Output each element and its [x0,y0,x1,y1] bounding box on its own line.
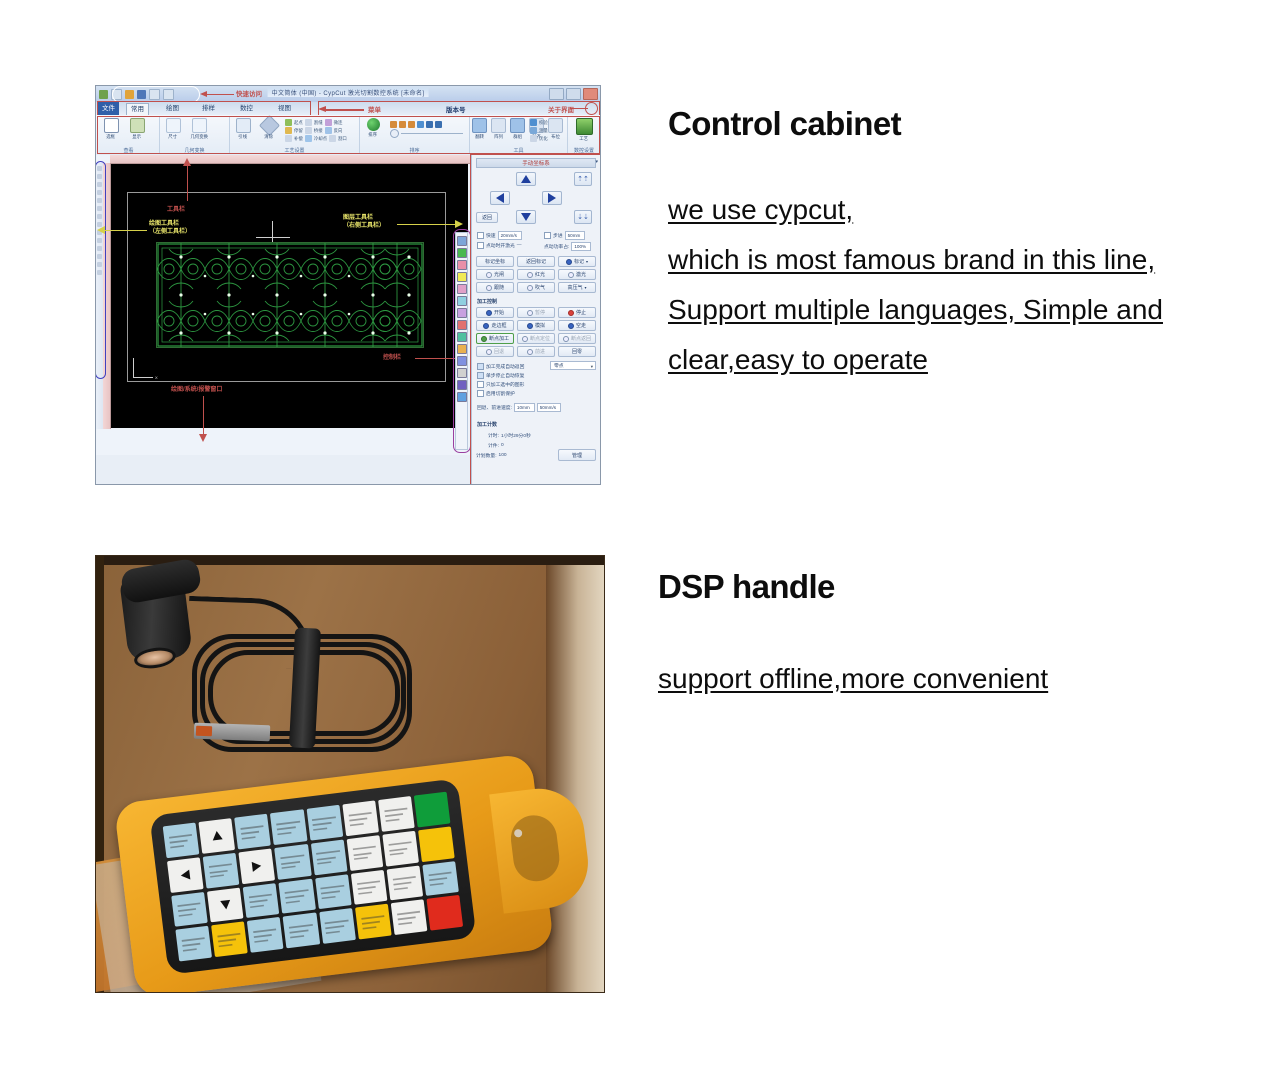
app-logo-icon [99,90,108,99]
key-r4c2[interactable] [211,922,248,958]
key-start[interactable] [414,792,451,828]
ribbon-group-name: 查看 [98,147,159,154]
ribbon-group-view: 选框 显示 查看 [98,116,160,154]
checkbox-icon[interactable] [477,242,484,249]
option-label: 只加工选中的图形 [486,381,524,388]
checkbox-checked-icon[interactable] [477,372,484,379]
chevron-down-icon[interactable]: ▾ [585,285,587,290]
back-icon [486,349,492,355]
ribbon-small-row[interactable]: 起点 割缝 微连 [285,119,347,126]
ribbon-button-clear[interactable]: 清除 [256,117,282,140]
btn-label: 红光 [535,271,545,278]
ribbon-button-geometry-transform[interactable]: 几何变换 [186,117,212,140]
ribbon-small-label: 冷却点 [314,136,327,142]
ribbon-small-row[interactable]: 停留 桥接 反向 [285,127,347,134]
ruler-top [110,155,470,164]
speed-row-label: 回退、前进速度: [477,404,512,411]
chevron-down-icon[interactable]: ▾ [586,259,588,264]
pattern-svg [157,243,423,347]
layer-toolbar-highlight-ring [453,229,471,453]
annotation-draw-toolbar: 绘图工具栏 （左侧工具栏） [149,220,191,236]
btn-label: 回退 [494,348,504,355]
ribbon-group-name: 工艺设置 [230,147,359,154]
ribbon-small-commands: 起点 割缝 微连 停留 桥接 反向 [285,117,347,142]
key-r2c2[interactable] [203,853,240,889]
step-label: 步进 [553,232,563,239]
process-control-section-title: 加工控制 [477,298,497,305]
ribbon-group-name: 排序 [360,147,469,154]
ribbon-label: 几何变换 [190,134,207,140]
ribbon-small-label: 补偿 [294,136,303,142]
checkbox-checked-icon[interactable] [477,363,484,370]
ribbon-label: 群组 [513,134,522,140]
option-auto-resume[interactable]: 单步停止自动恢复 [477,372,524,379]
size-icon [166,118,181,133]
btn-label: 断点加工 [489,335,509,342]
key-r4c3[interactable] [247,917,284,953]
red-light-icon [527,272,533,278]
checkbox-icon[interactable] [477,232,484,239]
high-pressure-gas-button[interactable]: 高压气▾ [558,282,596,293]
group-icon [510,118,525,133]
ribbon-button-group[interactable]: 群组 [508,117,527,140]
return-button[interactable]: 返回 [476,212,498,223]
sort-order-2-icon [399,121,406,128]
key-r2c5[interactable] [310,839,347,875]
stat-count-value: 0 [501,443,504,448]
stop-button[interactable]: 停止 [558,307,596,318]
jog-pad[interactable]: ⇡⇡ ⇣⇣ 返回 [472,171,601,227]
ribbon-small-label: 割口 [338,136,347,142]
ribbon-small-row[interactable]: 测量 [530,127,566,134]
mark-coordinate-button[interactable]: 标记坐标 [476,256,514,267]
axis-x-label: X [155,375,158,380]
follow-button[interactable]: 跟随 [476,282,514,293]
jog-z-down-button[interactable]: ⇣⇣ [574,210,592,224]
dwell-icon [285,127,292,134]
ribbon-button-lead[interactable]: 引线 [230,117,256,140]
key-r4c4[interactable] [283,913,320,949]
annotation-layer-toolbar-line2: （右侧工具栏） [343,222,385,230]
stat-count-row: 计件: 0 [488,442,504,449]
control-cabinet-line-2: which is most famous brand in this line, [668,235,1268,285]
ribbon-small-label: 微连 [334,120,343,126]
btn-label: 暂停 [535,309,545,316]
key-down[interactable] [207,887,244,923]
sort-order-4-icon [417,121,424,128]
ribbon-small-row[interactable]: 校验 [530,119,566,126]
ribbon-label: 引线 [239,134,248,140]
cut-pattern-graphic [156,242,424,348]
log-window-annotation-arrow-icon [199,396,208,442]
z-down-icon: ⇣⇣ [577,213,589,221]
dryrun-icon [568,323,574,329]
display-icon [130,118,145,133]
btn-label: 返回标记 [526,258,546,265]
minimize-icon[interactable] [549,88,564,100]
fast-speed-value[interactable]: 20mm/s [498,231,522,240]
return-mark-button[interactable]: 返回标记 [517,256,555,267]
arrow-down-icon [220,900,231,910]
control-cabinet-line-1: we use cypcut, [668,185,1268,235]
jog-power-row[interactable]: 点动功率占: 100% [544,242,591,251]
ribbon-button-select[interactable]: 选框 [98,117,124,140]
btn-label: 标记 [574,258,584,265]
checkbox-icon[interactable] [477,381,484,388]
option-label: 加工完成自动返回 [486,363,524,370]
forward-button[interactable]: 前进 [517,346,555,357]
mark-icon [566,259,572,265]
ribbon-small-label: 测量 [539,128,548,134]
optimize-icon [530,135,537,142]
quick-access-annotation: 快速访问 [236,88,262,98]
keypad-grid[interactable] [163,792,463,962]
cooling-point-icon [305,135,312,142]
annotation-log-window: 绘图/系统/报警窗口 [171,386,222,394]
annotation-draw-toolbar-line2: （左侧工具栏） [149,228,191,236]
pause-button[interactable]: 暂停 [517,307,555,318]
annotation-layer-toolbar-line1: 图层工具栏 [343,214,385,222]
ribbon-small-label: 停留 [294,128,303,134]
jog-power-label: 点动功率占: [544,243,569,250]
option-cut-protect[interactable]: 启用切割保护 [477,390,515,397]
ribbon-small-row[interactable] [390,121,463,128]
canvas-viewport[interactable]: X 工具栏 绘图工具栏 （左侧工具栏） 图层工具栏 （右侧工具栏） [111,164,468,428]
annotation-layer-toolbar: 图层工具栏 （右侧工具栏） [343,214,385,230]
stat-timer-label: 计时: [488,432,499,439]
ribbon-label: 工艺 [580,136,589,142]
key-r1c3[interactable] [234,814,271,850]
key-r2c7[interactable] [382,831,419,867]
ribbon-label: 阵列 [494,134,503,140]
laser-icon [568,272,574,278]
prev-icon[interactable] [426,121,433,128]
checkbox-icon[interactable] [544,232,551,239]
option-label: 单步停止自动恢复 [486,372,524,379]
btn-label: 模拟 [535,322,545,329]
stat-count-label: 计件: [488,442,499,449]
draw-toolbar-highlight-ring [95,161,106,379]
arrow-up-icon [211,831,222,841]
home-button[interactable]: 回零 [558,346,596,357]
laser-on-jog-checkbox[interactable]: 点动时开激光 — [477,242,522,249]
ribbon-label: 排序 [369,132,378,138]
key-r4c1[interactable] [175,926,212,962]
ribbon-small-label: 反向 [334,128,343,134]
control-cabinet-heading: Control cabinet [668,105,1268,143]
ribbon-small-row[interactable]: 补偿 冷却点 割口 [285,135,347,142]
verify-icon [530,119,537,126]
drawing-canvas-area[interactable]: X 工具栏 绘图工具栏 （左侧工具栏） 图层工具栏 （右侧工具栏） [96,155,470,455]
dsp-handle-photo [95,555,605,993]
ribbon-group-cnc-settings: 工艺 数控设置 [568,116,600,154]
btn-label: 走边框 [491,322,506,329]
arrow-down-icon [521,213,531,221]
simulate-button[interactable]: 模拟 [517,320,555,331]
btn-label: 开始 [494,309,504,316]
speed-row[interactable]: 回退、前进速度: 10mm 50mm/s [477,403,561,412]
blow-icon [527,285,533,291]
ribbon[interactable]: 选框 显示 查看 尺寸 几何变换 几何变换 [96,115,600,156]
dsp-handle-text-block: DSP handle support offline,more convenie… [658,568,1258,704]
key-left[interactable] [167,857,204,893]
sort-slider[interactable] [390,129,463,138]
btn-label: 断点定位 [530,335,550,342]
origin-marker: X [133,356,155,378]
back-speed-value[interactable]: 50mm/s [537,403,561,412]
ribbon-sort-extras [390,119,463,138]
checkbox-icon[interactable] [477,390,484,397]
btn-label: 吹气 [535,284,545,291]
stat-planned-row: 计划数量: 100 [476,452,507,459]
laser-on-jog-label: 点动时开激光 [486,242,515,249]
sort-order-3-icon [408,121,415,128]
annotation-draw-toolbar-line1: 绘图工具栏 [149,220,191,228]
key-r3c4[interactable] [279,878,316,914]
key-r2c6[interactable] [346,835,383,871]
arrow-right-icon [252,860,262,871]
arrow-right-icon [548,193,556,203]
btn-label: 高压气 [567,284,582,291]
step-checkbox[interactable]: 步进 50mm [544,231,585,240]
key-r1c1[interactable] [163,822,200,858]
fast-speed-label: 快速 [486,232,496,239]
dsp-handle-heading: DSP handle [658,568,1258,606]
jog-up-button[interactable] [516,172,536,186]
key-r1c7[interactable] [378,796,415,832]
step-value[interactable]: 50mm [565,231,586,240]
quick-access-arrow-icon [200,90,234,98]
window-buttons[interactable] [549,88,598,100]
btn-label: 回零 [572,348,582,355]
layer-toolbar-annotation-arrow-icon [397,220,463,229]
breakpoint-icon [481,336,487,342]
arrow-up-icon [521,175,531,183]
jog-left-button[interactable] [490,191,510,205]
key-up[interactable] [199,818,236,854]
stat-planned-label: 计划数量: [476,452,497,459]
option-label: 启用切割保护 [486,390,515,397]
breakpoint-locate-button[interactable]: 断点定位 [517,333,555,344]
btn-label: 空走 [576,322,586,329]
kerf-icon [305,119,312,126]
key-r3c7[interactable] [386,865,423,901]
ribbon-button-size[interactable]: 尺寸 [160,117,186,140]
play-icon [486,310,492,316]
ribbon-group-transform: 尺寸 几何变换 几何变换 [160,116,230,154]
measure-icon [530,127,537,134]
breakpoint-process-button[interactable]: 断点加工 [476,333,514,344]
locate-icon [522,336,528,342]
arrow-left-icon [180,869,190,880]
fast-speed-checkbox[interactable]: 快速 20mm/s [477,231,522,240]
control-cabinet-line-3: Support multiple languages, Simple and [668,285,1268,335]
forward-icon [527,349,533,355]
version-annotation: 版本号 [446,104,466,114]
key-r4c7[interactable] [391,900,428,936]
stop-icon [568,310,574,316]
ribbon-button-craft[interactable]: 工艺 [571,117,597,142]
stats-section-title: 加工计数 [477,421,497,428]
jog-down-button[interactable] [516,210,536,224]
mark-button[interactable]: 标记▾ [558,256,596,267]
keypad-bezel [149,778,476,975]
ribbon-button-sort[interactable]: 排序 [360,117,386,138]
tabs-highlight-box [97,101,311,116]
sort-icon [367,118,380,131]
shutter-button[interactable]: 光闸 [476,269,514,280]
btn-label: 前进 [535,348,545,355]
array-icon [491,118,506,133]
stat-timer-row: 计时: 1小时29分0秒 [488,432,531,439]
option-auto-return[interactable]: 加工完成自动返回 [477,363,524,370]
key-r4c6[interactable] [355,904,392,940]
ribbon-group-name: 数控设置 [568,147,600,154]
z-up-icon: ⇡⇡ [577,175,589,183]
ribbon-small-label: 桥接 [314,128,323,134]
annotation-toolbar: 工具栏 [167,206,185,214]
transform-icon [192,118,207,133]
about-highlight-circle [585,102,598,115]
ribbon-label: 选框 [107,134,116,140]
back-distance-value[interactable]: 10mm [514,403,535,412]
ribbon-group-sort: 排序 排序 [360,116,470,154]
chevron-down-icon[interactable]: ▾ [591,362,593,371]
back-button[interactable]: 回退 [476,346,514,357]
ribbon-group-process: 引线 清除 起点 割缝 微连 [230,116,360,154]
control-cabinet-line-4: clear,easy to operate [668,335,1268,385]
ribbon-label: 尺寸 [169,134,178,140]
ribbon-tools-extra: 校验 测量 优化 [530,116,566,154]
blow-button[interactable]: 吹气 [517,282,555,293]
start-button[interactable]: 开始 [476,307,514,318]
ribbon-label: 翻转 [475,134,484,140]
key-r3c3[interactable] [243,883,280,919]
stat-planned-value: 100 [499,453,507,458]
close-icon[interactable] [583,88,598,100]
start-point-icon [285,119,292,126]
key-r3c5[interactable] [315,874,352,910]
btn-label: 跟随 [494,284,504,291]
panel-collapse-chevron-down-icon[interactable]: ▾ [595,159,598,165]
simulate-icon [527,323,533,329]
btn-label: 管理 [572,452,582,459]
sort-order-1-icon [390,121,397,128]
lead-icon [236,118,251,133]
shutter-icon [486,272,492,278]
zero-point-select[interactable]: 零点▾ [550,361,596,370]
draw-toolbar-annotation-arrow-icon [97,226,147,235]
key-r1c5[interactable] [306,805,343,841]
ribbon-button-display[interactable]: 显示 [124,117,150,140]
key-stop[interactable] [426,895,463,931]
key-r1c6[interactable] [342,800,379,836]
key-r1c4[interactable] [270,809,307,845]
clear-icon [258,115,279,136]
control-cabinet-text-block: Control cabinet we use cypcut, which is … [668,105,1268,385]
menu-annotation: 菜单 [368,104,381,114]
manage-button[interactable]: 管理 [558,449,596,461]
ribbon-group-name: 几何变换 [160,147,229,154]
dsp-handle-line-1: support offline,more convenient [658,654,1258,704]
btn-label: 光闸 [494,271,504,278]
ribbon-label: 显示 [133,134,142,140]
cursor-icon [104,118,119,133]
manual-control-panel[interactable]: 手动坐标系 ▾ ⇡⇡ ⇣⇣ 返回 快速 20mm/s 步进 50mm 点动时开激… [471,155,601,484]
craft-icon [576,118,593,135]
bridge-icon [305,127,312,134]
stat-timer-value: 1小时29分0秒 [501,432,531,439]
key-r4c5[interactable] [319,908,356,944]
reverse-icon [325,127,332,134]
key-r3c1[interactable] [171,891,208,927]
dsp-handle-body: support offline,more convenient [658,654,1258,704]
option-selected-only[interactable]: 只加工选中的图形 [477,381,524,388]
key-r3c8[interactable] [422,861,459,897]
flip-icon [472,118,487,133]
jog-right-button[interactable] [542,191,562,205]
ribbon-small-row[interactable]: 优化 [530,135,566,142]
panel-title-manual-coordinate[interactable]: 手动坐标系 [476,158,596,168]
red-light-button[interactable]: 红光 [517,269,555,280]
jog-power-value[interactable]: 100% [571,242,591,251]
ribbon-button-flip[interactable]: 翻转 [470,117,489,140]
compensate-icon [285,135,292,142]
ribbon-small-label: 割缝 [314,120,323,126]
btn-label: 标记坐标 [485,258,505,265]
laser-button[interactable]: 激光 [558,269,596,280]
breakpoint-return-button[interactable]: 断点返回 [558,333,596,344]
btn-label: 激光 [576,271,586,278]
frame-icon [483,323,489,329]
gap-icon [329,135,336,142]
btn-label: 断点返回 [571,335,591,342]
cypcut-window-title: 中文简体 (中国) - CypCut 激光切割数控系统 [未命名] [268,88,429,97]
ribbon-label: 清除 [265,134,274,140]
menu-arrow-icon [318,106,364,114]
ribbon-small-label: 起点 [294,120,303,126]
microjoint-icon [325,119,332,126]
control-cabinet-software-screenshot: 快速访问 中文简体 (中国) - CypCut 激光切割数控系统 [未命名] 文… [95,85,601,485]
btn-label: 停止 [576,309,586,316]
ribbon-tools-small: 校验 测量 优化 [530,116,566,142]
ribbon-small-label: 优化 [539,136,548,142]
follow-icon [486,285,492,291]
usb-connector [194,723,271,742]
frame-button[interactable]: 走边框 [476,320,514,331]
zero-point-value: 零点 [554,364,564,369]
return-bp-icon [563,336,569,342]
dry-run-button[interactable]: 空走 [558,320,596,331]
key-r2c4[interactable] [274,844,311,880]
key-r3c6[interactable] [350,869,387,905]
maximize-icon[interactable] [566,88,581,100]
key-pause[interactable] [418,826,455,862]
ribbon-button-array[interactable]: 阵列 [489,117,508,140]
cardboard-edge [546,556,604,992]
key-right[interactable] [239,848,276,884]
pause-icon [527,310,533,316]
arrow-left-icon [496,193,504,203]
control-cabinet-body: we use cypcut, which is most famous bran… [668,185,1268,385]
next-icon[interactable] [435,121,442,128]
jog-z-up-button[interactable]: ⇡⇡ [574,172,592,186]
ribbon-small-label: 校验 [539,120,548,126]
toolbar-annotation-arrow-icon [183,158,192,202]
annotation-control-bar: 控制栏 [383,354,401,362]
